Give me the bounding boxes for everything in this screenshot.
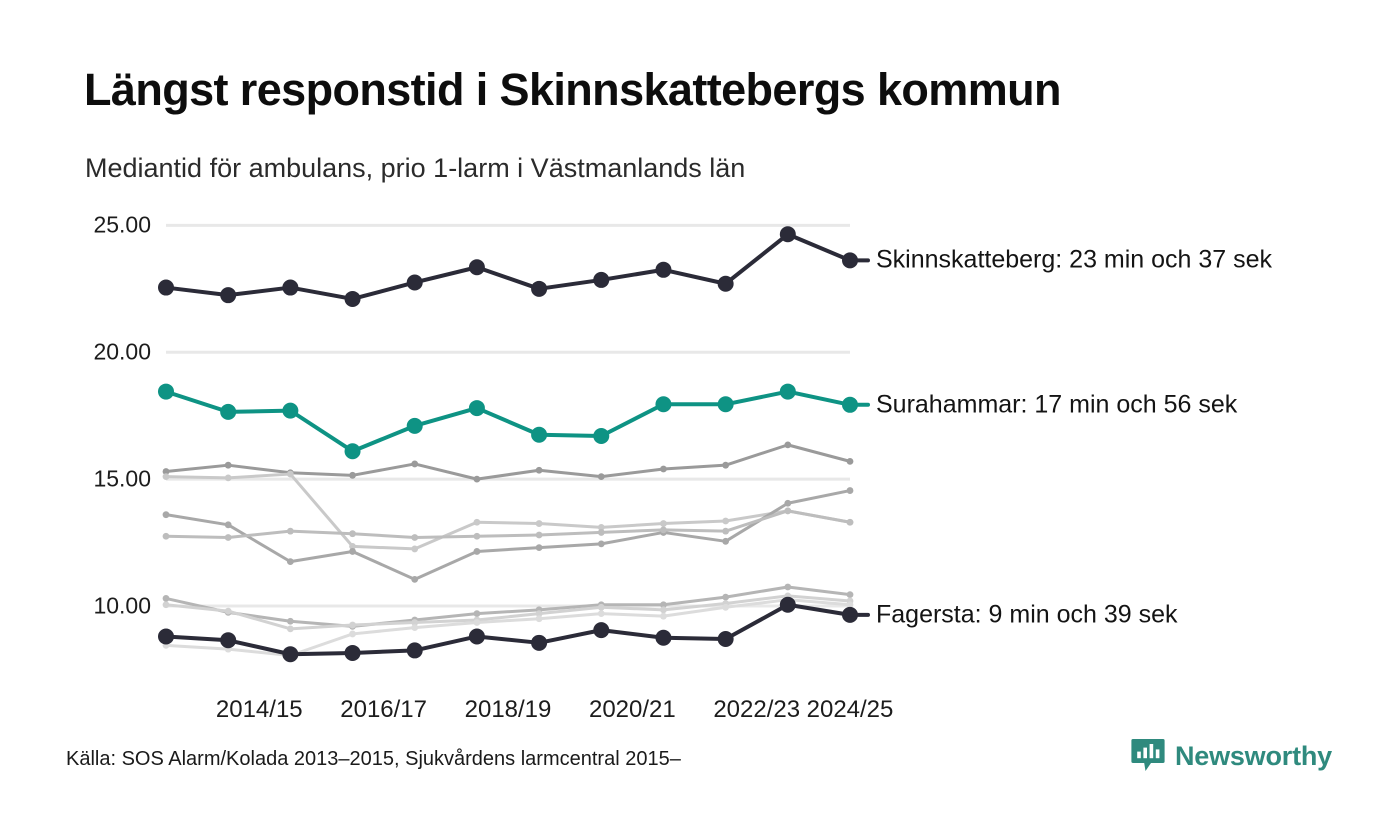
data-point [531, 281, 547, 297]
data-point [598, 473, 605, 480]
data-point [722, 462, 729, 469]
data-point [407, 418, 423, 434]
data-point [847, 458, 854, 465]
data-point [345, 291, 361, 307]
data-point [349, 631, 356, 638]
data-point [349, 622, 356, 629]
data-point [225, 462, 232, 469]
series-line-skinnskatteberg [166, 234, 850, 299]
data-point [407, 642, 423, 658]
data-point [474, 610, 481, 617]
data-point [474, 548, 481, 555]
data-point [593, 272, 609, 288]
data-point [349, 472, 356, 479]
chart-plot-area: 10.0015.0020.0025.00 2014/152016/172018/… [0, 0, 1400, 840]
data-point [598, 604, 605, 611]
data-point [780, 597, 796, 613]
data-point [655, 396, 671, 412]
x-axis-tick-2024-25: 2024/25 [807, 696, 894, 724]
data-point [660, 613, 667, 620]
data-point [469, 628, 485, 644]
newsworthy-logo: Newsworthy [1131, 738, 1332, 774]
data-point [345, 645, 361, 661]
source-note: Källa: SOS Alarm/Kolada 2013–2015, Sjukv… [66, 748, 681, 771]
series-line-gray-2 [166, 474, 850, 549]
data-point [225, 608, 232, 615]
data-point [784, 500, 791, 507]
data-point [593, 622, 609, 638]
data-point [474, 533, 481, 540]
series-end-label-skinnskatteberg: Skinnskatteberg: 23 min och 37 sek [876, 246, 1272, 275]
data-point [220, 404, 236, 420]
data-point [655, 262, 671, 278]
data-point [474, 619, 481, 626]
data-point [780, 226, 796, 242]
data-point [722, 518, 729, 525]
data-point [474, 476, 481, 483]
data-point [593, 428, 609, 444]
data-point [282, 646, 298, 662]
data-point [660, 526, 667, 533]
data-point [163, 595, 170, 602]
x-axis-tick-2022-23: 2022/23 [713, 696, 800, 724]
x-axis-tick-2018-19: 2018/19 [465, 696, 552, 724]
data-point [287, 471, 294, 478]
data-point [536, 467, 543, 474]
series-end-label-fagersta: Fagersta: 9 min och 39 sek [876, 600, 1178, 629]
data-point [163, 511, 170, 518]
data-point [660, 520, 667, 527]
data-point [287, 625, 294, 632]
y-axis-tick-20.00: 20.00 [31, 339, 151, 366]
data-point [469, 259, 485, 275]
chart-page: Längst responstid i Skinnskattebergs kom… [0, 0, 1400, 840]
data-point [225, 534, 232, 541]
logo-wordmark: Newsworthy [1175, 741, 1332, 772]
data-point [531, 427, 547, 443]
data-point [163, 473, 170, 480]
data-point [660, 466, 667, 473]
data-point [536, 520, 543, 527]
data-point [349, 548, 356, 555]
data-point [158, 628, 174, 644]
data-point [531, 635, 547, 651]
y-axis-tick-15.00: 15.00 [31, 466, 151, 493]
data-point [411, 461, 418, 468]
data-point [660, 606, 667, 613]
data-point [287, 558, 294, 565]
data-point [220, 287, 236, 303]
y-axis-tick-25.00: 25.00 [31, 212, 151, 239]
x-axis-tick-2016-17: 2016/17 [340, 696, 427, 724]
data-point [345, 443, 361, 459]
data-point [722, 594, 729, 601]
data-point [784, 441, 791, 448]
data-point [282, 280, 298, 296]
data-point [784, 584, 791, 591]
data-point [411, 624, 418, 631]
data-point [722, 538, 729, 545]
data-point [598, 540, 605, 547]
data-point [287, 528, 294, 535]
data-point [536, 544, 543, 551]
data-point [411, 546, 418, 553]
data-point [598, 610, 605, 617]
data-point [722, 604, 729, 611]
data-point [407, 274, 423, 290]
data-point [469, 400, 485, 416]
data-point [784, 507, 791, 514]
data-point [536, 615, 543, 622]
data-point [349, 530, 356, 537]
series-end-label-surahammar: Surahammar: 17 min och 56 sek [876, 390, 1237, 419]
data-point [474, 519, 481, 526]
data-point [718, 396, 734, 412]
data-point [847, 591, 854, 598]
data-point [411, 534, 418, 541]
data-point [847, 487, 854, 494]
data-point [722, 528, 729, 535]
data-point [158, 384, 174, 400]
data-point [163, 533, 170, 540]
data-point [655, 630, 671, 646]
bar-chart-speech-bubble-icon [1131, 738, 1165, 774]
data-point [411, 576, 418, 583]
data-point [163, 601, 170, 608]
data-point [225, 521, 232, 528]
data-point [282, 403, 298, 419]
x-axis-tick-2020-21: 2020/21 [589, 696, 676, 724]
series-line-surahammar [166, 392, 850, 452]
x-axis-tick-2014-15: 2014/15 [216, 696, 303, 724]
data-point [847, 519, 854, 526]
data-point [718, 276, 734, 292]
data-point [780, 384, 796, 400]
data-point [225, 474, 232, 481]
data-point [158, 280, 174, 296]
data-point [718, 631, 734, 647]
line-chart-svg [0, 0, 1400, 840]
y-axis-tick-10.00: 10.00 [31, 593, 151, 620]
data-point [598, 529, 605, 536]
data-point [536, 532, 543, 539]
data-point [220, 632, 236, 648]
data-point [287, 618, 294, 625]
